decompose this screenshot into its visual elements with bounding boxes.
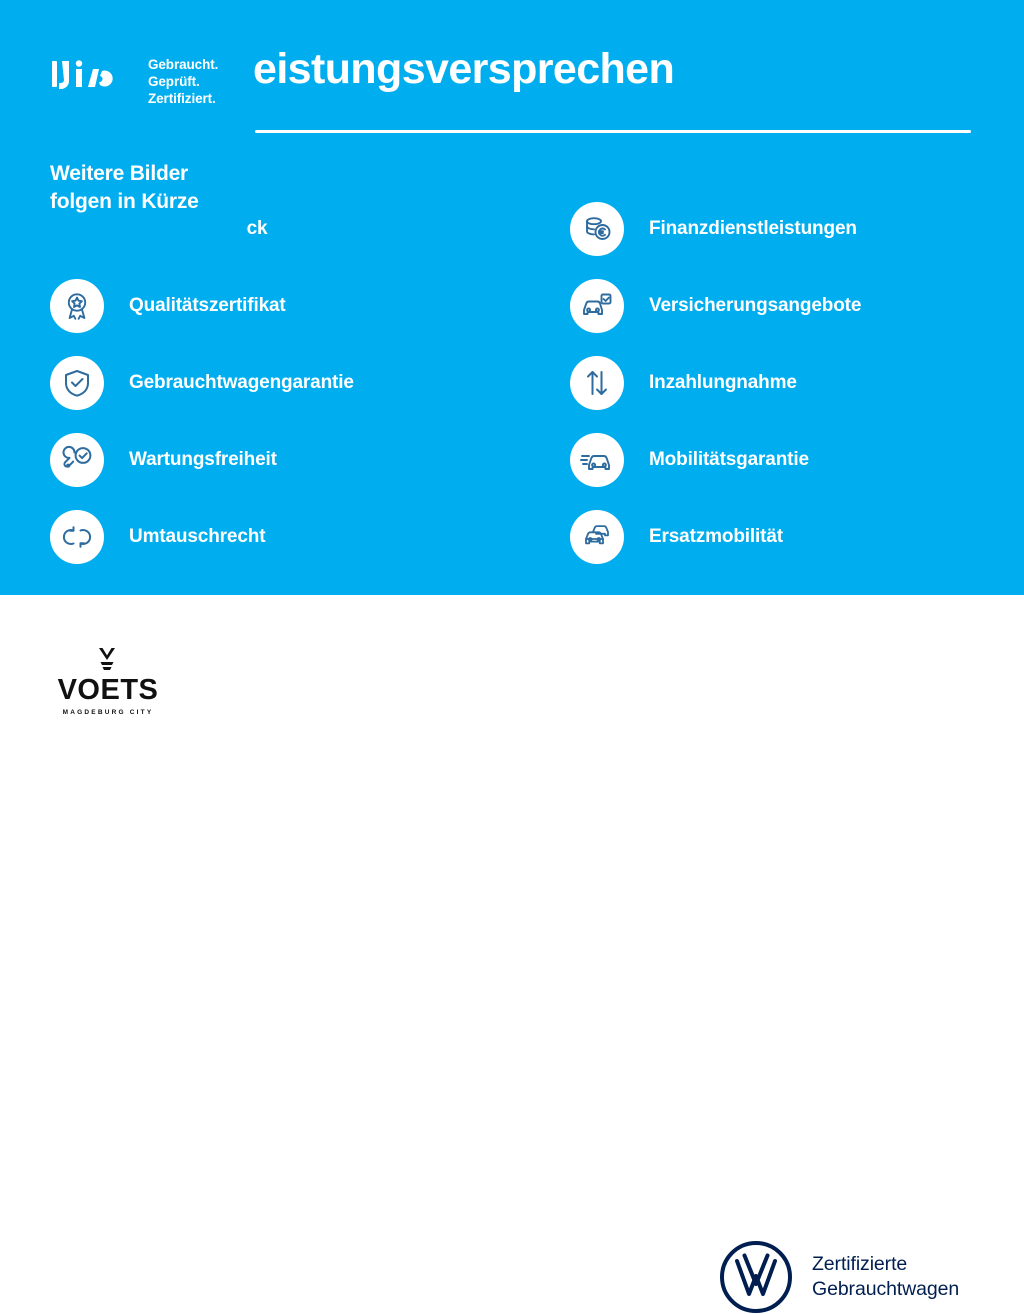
feature-label: Umtauschrecht <box>129 526 265 548</box>
dealer-name: VOETS <box>58 676 159 705</box>
award-rosette-icon <box>50 279 104 333</box>
multiple-cars-icon <box>570 510 624 564</box>
feature-item-wartungsfreiheit[interactable]: Wartungsfreiheit <box>50 421 520 498</box>
feature-item-umtauschrecht[interactable]: Umtauschrecht <box>50 498 520 575</box>
leistungsversprechen-slide: Gebraucht. Geprüft. Zertifiziert. eistun… <box>0 0 1024 768</box>
header: Gebraucht. Geprüft. Zertifiziert. eistun… <box>0 0 1024 150</box>
feature-label: Mobilitätsgarantie <box>649 449 809 471</box>
up-down-arrows-icon <box>570 356 624 410</box>
moving-car-icon <box>570 433 624 487</box>
notice-line-2: folgen in Kürze <box>50 188 246 216</box>
blue-panel: Gebraucht. Geprüft. Zertifiziert. eistun… <box>0 0 1024 595</box>
feature-label: Gebrauchtwagengarantie <box>129 372 354 394</box>
shield-check-icon <box>50 356 104 410</box>
notice-line-1: Weitere Bilder <box>50 160 246 188</box>
feature-item-gebrauchtwagengarantie[interactable]: Gebrauchtwagengarantie <box>50 344 520 421</box>
feature-label: Ersatzmobilität <box>649 526 783 548</box>
feature-item-inzahlungnahme[interactable]: Inzahlungnahme <box>570 344 1024 421</box>
page-title: eistungsversprechen <box>253 48 674 91</box>
image-pending-notice: Weitere Bilder folgen in Kürze <box>50 160 246 263</box>
brand-claim-line-3: Zertifiziert. <box>148 90 218 107</box>
volkswagen-certified-badge: Zertifizierte Gebrauchtwagen <box>719 1240 959 1314</box>
dealer-city: MAGDEBURG CITY <box>63 710 154 717</box>
brand-claim: Gebraucht. Geprüft. Zertifiziert. <box>148 56 218 107</box>
feature-label: Finanzdienstleistungen <box>649 218 857 240</box>
title-divider <box>255 130 971 133</box>
feature-item-qualitaetszertifikat[interactable]: Qualitätszertifikat <box>50 267 520 344</box>
vw-text-line-1: Zertifizierte <box>812 1252 959 1277</box>
volkswagen-logo <box>719 1240 793 1314</box>
feature-label: Versicherungsangebote <box>649 295 861 317</box>
feature-column-right: Finanzdienstleistungen Versicherungsange… <box>570 190 1024 575</box>
feature-item-versicherungsangebote[interactable]: Versicherungsangebote <box>570 267 1024 344</box>
feature-label: Wartungsfreiheit <box>129 449 277 471</box>
coins-euro-icon <box>570 202 624 256</box>
footer: VOETS MAGDEBURG CITY Zertifizierte Gebra… <box>0 595 1024 768</box>
feature-label: Inzahlungnahme <box>649 372 797 394</box>
feature-label: Qualitätszertifikat <box>129 295 286 317</box>
das-welt-auto-logo: Gebraucht. Geprüft. Zertifiziert. <box>50 52 250 110</box>
voets-logo: VOETS MAGDEBURG CITY <box>50 647 166 723</box>
voets-mark-icon <box>88 647 128 673</box>
vw-certified-text: Zertifizierte Gebrauchtwagen <box>812 1252 959 1302</box>
exchange-arrows-icon <box>50 510 104 564</box>
car-checkbox-icon <box>570 279 624 333</box>
feature-item-ersatzmobilitaet[interactable]: Ersatzmobilität <box>570 498 1024 575</box>
feature-item-mobilitaetsgarantie[interactable]: Mobilitätsgarantie <box>570 421 1024 498</box>
brand-claim-line-1: Gebraucht. <box>148 56 218 73</box>
vw-text-line-2: Gebrauchtwagen <box>812 1277 959 1302</box>
brand-mark-icon <box>50 55 138 107</box>
brand-claim-line-2: Geprüft. <box>148 73 218 90</box>
wrench-check-icon <box>50 433 104 487</box>
feature-item-finanzdienstleistungen[interactable]: Finanzdienstleistungen <box>570 190 1024 267</box>
